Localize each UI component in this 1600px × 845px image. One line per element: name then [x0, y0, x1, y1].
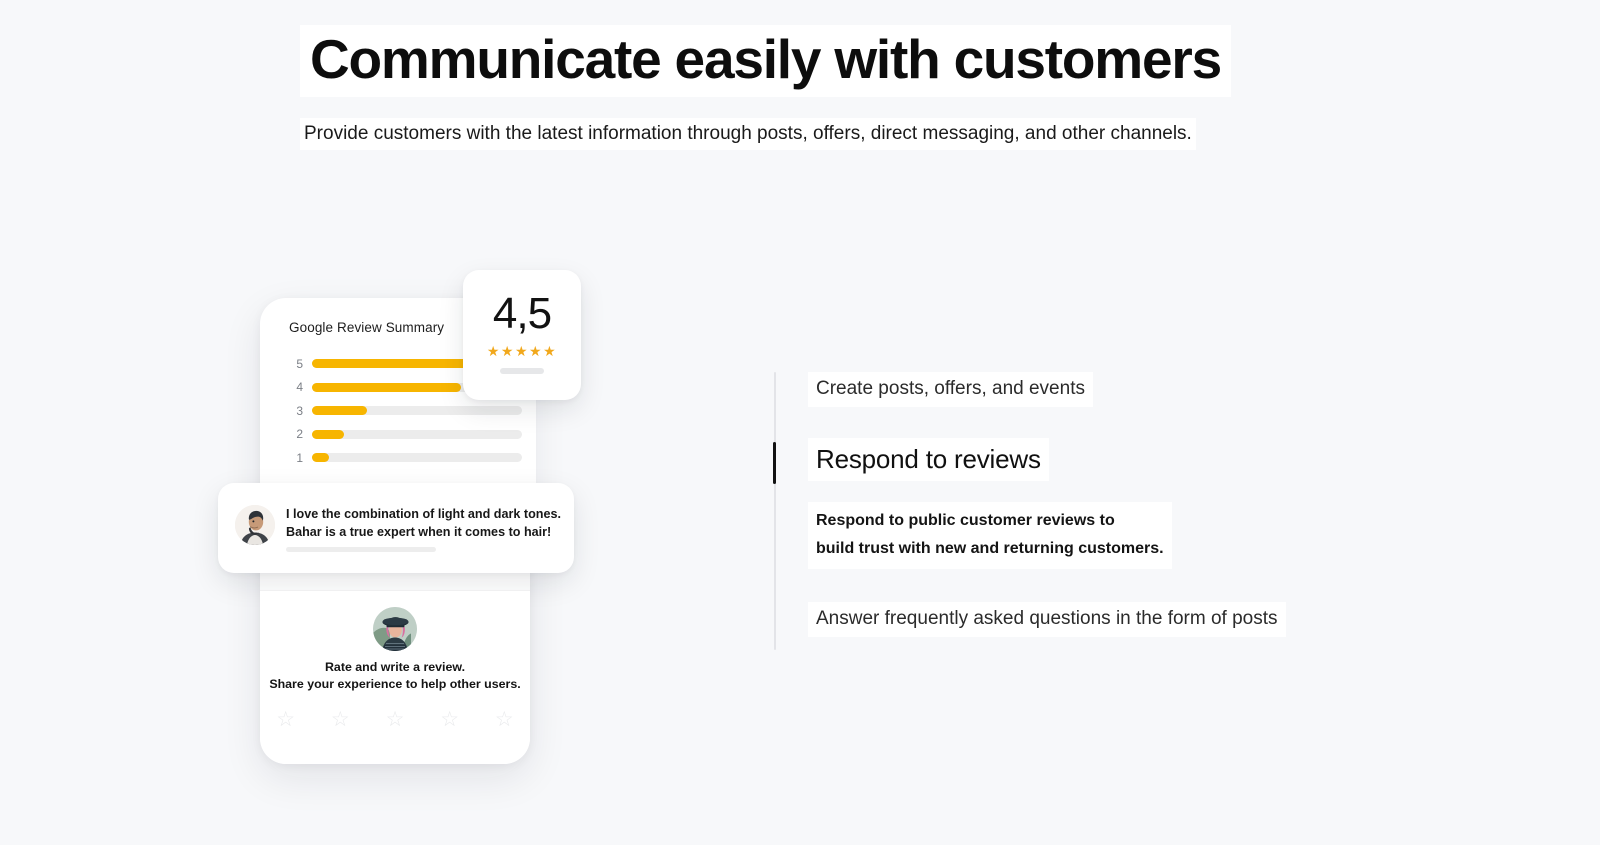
- rating-bar-fill: [312, 406, 367, 415]
- rating-bar-label: 4: [286, 381, 303, 393]
- feature-label: Answer frequently asked questions in the…: [808, 602, 1286, 637]
- page-root: Communicate easily with customers Provid…: [0, 0, 1600, 845]
- rating-bar-label: 3: [286, 405, 303, 417]
- summary-title: Google Review Summary: [289, 320, 444, 335]
- rating-bar-track: [312, 406, 522, 415]
- rate-and-review-panel: Rate and write a review. Share your expe…: [260, 590, 530, 764]
- rating-star-input[interactable]: ☆ ☆ ☆ ☆ ☆: [260, 709, 530, 730]
- feature-label: Create posts, offers, and events: [808, 372, 1093, 407]
- feature-item-respond-to-reviews[interactable]: Respond to reviews: [808, 438, 1049, 481]
- feature-item-create-posts[interactable]: Create posts, offers, and events: [808, 372, 1093, 407]
- rating-bar-fill: [312, 359, 482, 368]
- avatar: [373, 607, 417, 651]
- rating-bar-label: 1: [286, 452, 303, 464]
- rate-prompt-line-1: Rate and write a review.: [260, 659, 530, 676]
- avatar: [235, 505, 275, 545]
- reviewer-photo-man-icon: [235, 505, 275, 545]
- page-subtitle: Provide customers with the latest inform…: [304, 121, 1192, 147]
- overall-rating-value: 4,5: [463, 292, 581, 336]
- feature-item-answer-faq[interactable]: Answer frequently asked questions in the…: [808, 602, 1286, 637]
- rating-bar-label: 2: [286, 428, 303, 440]
- rating-bar-fill: [312, 383, 461, 392]
- rating-bar-track: [312, 430, 522, 439]
- rating-bar-row: 1: [286, 446, 522, 470]
- overall-rating-stars-icon: ★★★★★: [463, 344, 581, 358]
- page-title: Communicate easily with customers: [310, 29, 1221, 91]
- progress-rail: [774, 372, 776, 650]
- feature-body-text: Respond to public customer reviews to bu…: [808, 502, 1172, 569]
- feature-description-respond-to-reviews: Respond to public customer reviews to bu…: [808, 502, 1172, 569]
- feature-heading: Respond to reviews: [808, 438, 1049, 481]
- review-placeholder-bar: [286, 547, 436, 552]
- rating-bar-row: 3: [286, 399, 522, 423]
- rating-bar-fill: [312, 430, 344, 439]
- reviewer-photo-woman-icon: [373, 607, 417, 651]
- customer-review-card: I love the combination of light and dark…: [218, 483, 574, 573]
- page-title-highlight: Communicate easily with customers: [300, 25, 1231, 97]
- customer-review-text: I love the combination of light and dark…: [286, 506, 561, 542]
- rating-placeholder-bar: [500, 368, 544, 374]
- progress-rail-active-segment: [773, 442, 776, 484]
- overall-rating-card: 4,5 ★★★★★: [463, 270, 581, 400]
- rate-prompt-line-2: Share your experience to help other user…: [260, 676, 530, 693]
- rating-bar-label: 5: [286, 358, 303, 370]
- rating-bar-row: 2: [286, 423, 522, 447]
- rating-bar-track: [312, 453, 522, 462]
- page-subtitle-highlight: Provide customers with the latest inform…: [300, 118, 1196, 150]
- rating-bar-fill: [312, 453, 329, 462]
